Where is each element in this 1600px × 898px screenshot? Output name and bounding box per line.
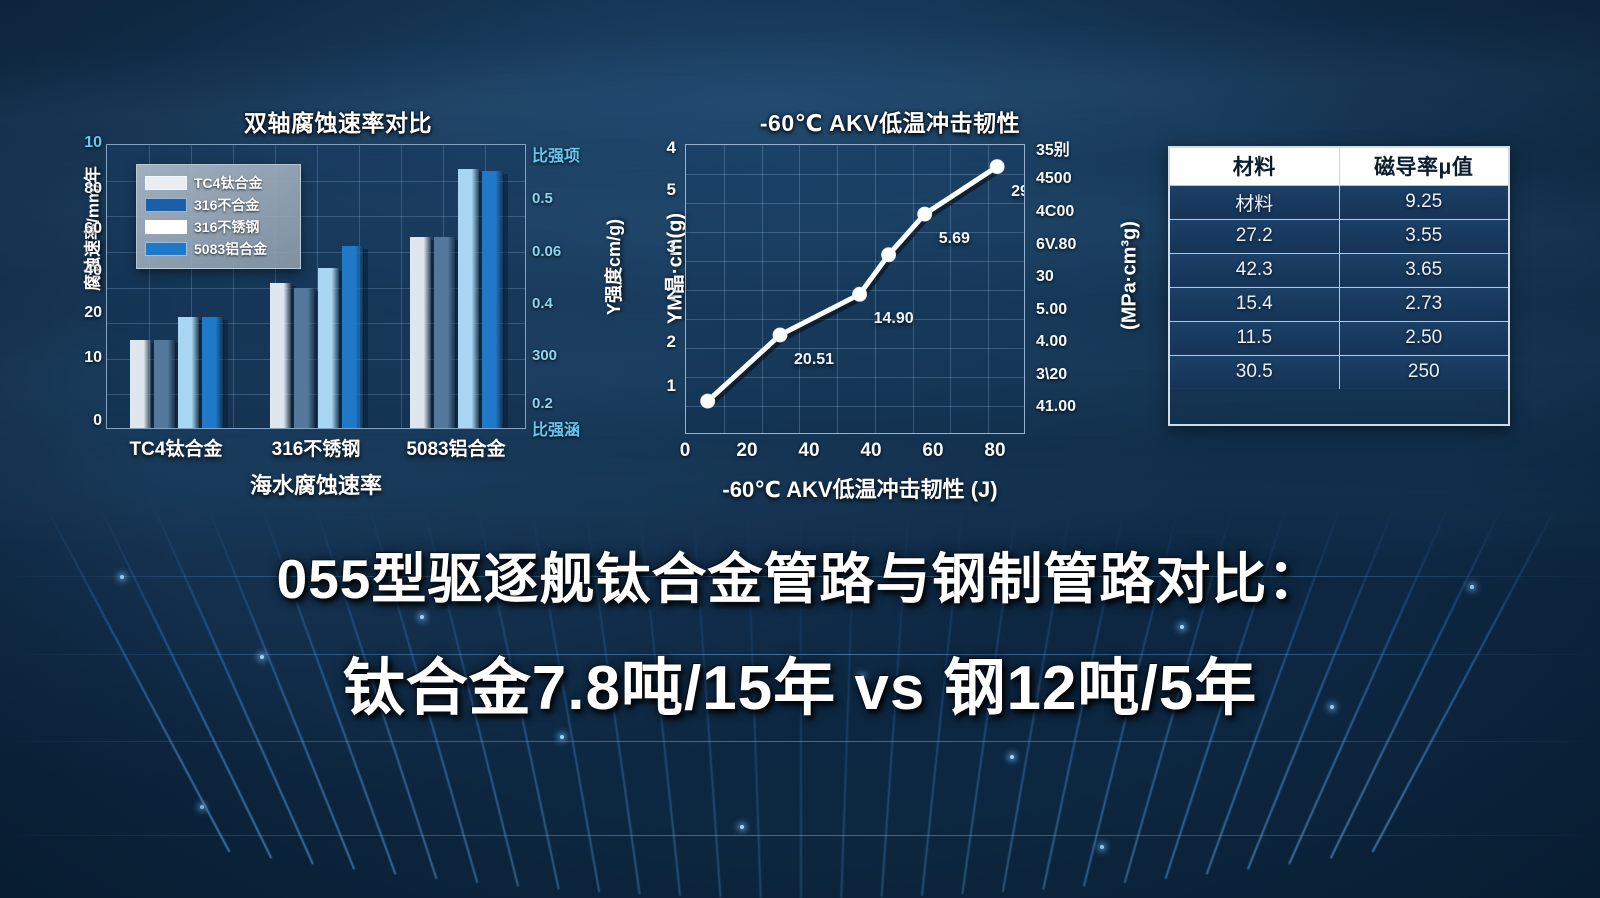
line-chart-panel: -60℃ AKV低温冲击韧性 YM晶·cm(g) (MPa·cm³g) 20.5… <box>630 104 1150 500</box>
line-ytick-left-6: 1 <box>636 376 676 396</box>
line-ytick-right-9: 41.00 <box>1036 398 1098 416</box>
caption-line-1: 055型驱逐舰钛合金管路与钢制管路对比： <box>0 545 1600 614</box>
line-xtick-1: 0 <box>663 440 707 462</box>
bar-ytick-left-6: 10 <box>66 349 102 367</box>
line-series <box>686 145 1025 434</box>
bar-shadow <box>363 249 368 429</box>
line-ytick-left-1: 4 <box>636 138 676 158</box>
bar-fill <box>270 283 292 428</box>
legend-item-2[interactable]: 316不合金 <box>145 194 292 216</box>
line-ytick-right-8: 3\20 <box>1036 366 1098 384</box>
line-chart-x-title: -60℃ AKV低温冲击韧性 (J) <box>650 472 1070 504</box>
table-cell-r4-c2: 2.73 <box>1339 287 1508 321</box>
line-ytick-left-2: 5 <box>636 180 676 200</box>
bar-3-group-1 <box>178 317 200 428</box>
line-ytick-right-7: 4.00 <box>1036 333 1098 351</box>
bar-shadow <box>503 174 508 429</box>
legend-label: 316不锈钢 <box>194 217 259 237</box>
table-row: 27.23.55 <box>1170 219 1508 253</box>
line-chart-plot-area: 20.5114.905.6929.8 <box>685 144 1025 434</box>
line-point-label-2: 20.51 <box>794 351 834 369</box>
bar-fill <box>342 246 364 428</box>
bar-ytick-right-2: 0.06 <box>532 243 584 260</box>
line-point-label-3: 14.90 <box>874 310 914 328</box>
bar-fill <box>130 340 152 428</box>
line-ytick-right-3: 4C00 <box>1036 203 1098 221</box>
bar-ytick-right-4: 300 <box>532 347 584 364</box>
bar-chart-legend: TC4钛合金316不合金316不锈钢5083铝合金 <box>136 164 301 269</box>
bar-fill <box>410 237 432 428</box>
bar-chart-right-cap-top: 比强项 <box>532 142 580 166</box>
bar-2-group-3 <box>434 237 456 428</box>
material-table: 材料磁导率μ值 材料9.2527.23.5542.33.6515.42.7311… <box>1170 148 1508 389</box>
legend-item-4[interactable]: 5083铝合金 <box>145 238 292 260</box>
bar-1-group-1 <box>130 340 152 428</box>
bar-fill <box>294 288 316 428</box>
bar-ytick-right-3: 0.4 <box>532 295 584 312</box>
bar-chart-right-cap-bottom: 比强涵 <box>532 416 580 440</box>
legend-swatch <box>145 176 187 190</box>
bar-1-group-2 <box>270 283 292 428</box>
bar-fill <box>458 169 480 428</box>
bar-3-group-3 <box>458 169 480 428</box>
bar-4-group-3 <box>482 171 504 428</box>
bar-ytick-left-4: 40 <box>66 262 102 280</box>
table-cell-r5-c1: 11.5 <box>1170 321 1339 355</box>
line-ytick-left-4: 2 <box>636 284 676 304</box>
material-table-panel: 材料磁导率μ值 材料9.2527.23.5542.33.6515.42.7311… <box>1168 146 1510 426</box>
table-cell-r2-c1: 27.2 <box>1170 219 1339 253</box>
bar-xtick-1: TC4钛合金 <box>106 434 246 461</box>
bar-fill <box>202 317 224 428</box>
line-chart-y-right-title: (MPa·cm³g) <box>1119 166 1142 386</box>
bar-ytick-left-7: 0 <box>66 412 102 430</box>
line-point-label-6: 29.8 <box>1011 183 1025 201</box>
line-ytick-right-2: 4500 <box>1036 170 1098 188</box>
bar-xtick-3: 5083铝合金 <box>386 434 526 461</box>
line-chart-title: -60℃ AKV低温冲击韧性 <box>630 104 1150 138</box>
table-body: 材料9.2527.23.5542.33.6515.42.7311.52.5030… <box>1170 185 1508 389</box>
caption-block: 055型驱逐舰钛合金管路与钢制管路对比： 钛合金7.8吨/15年 vs 钢12吨… <box>0 545 1600 726</box>
legend-swatch <box>145 220 187 234</box>
bar-shadow <box>223 320 228 429</box>
table-header-2: 磁导率μ值 <box>1339 148 1508 185</box>
bar-chart-title: 双轴腐蚀速率对比 <box>58 104 618 138</box>
bar-fill <box>434 237 456 428</box>
table-cell-r3-c1: 42.3 <box>1170 253 1339 287</box>
table-cell-r4-c1: 15.4 <box>1170 287 1339 321</box>
legend-swatch <box>145 242 187 256</box>
bar-fill <box>154 340 176 428</box>
line-xtick-3: 40 <box>787 440 831 462</box>
bar-fill <box>178 317 200 428</box>
line-xtick-4: 40 <box>849 440 893 462</box>
table-cell-r1-c1: 材料 <box>1170 185 1339 219</box>
bar-gridline-v <box>401 145 402 428</box>
bar-chart-y-right-title: Y强度cm/g) <box>600 182 626 352</box>
bar-2-group-1 <box>154 340 176 428</box>
bar-fill <box>482 171 504 428</box>
line-xtick-6: 80 <box>973 440 1017 462</box>
legend-swatch <box>145 198 187 212</box>
table-cell-r3-c2: 3.65 <box>1339 253 1508 287</box>
table-cell-r5-c2: 2.50 <box>1339 321 1508 355</box>
table-row: 30.5250 <box>1170 355 1508 389</box>
bar-ytick-right-5: 0.2 <box>532 395 584 412</box>
bar-ytick-left-2: 80 <box>66 180 102 198</box>
table-row: 42.33.65 <box>1170 253 1508 287</box>
bar-ytick-left-5: 20 <box>66 304 102 322</box>
table-cell-r6-c1: 30.5 <box>1170 355 1339 389</box>
line-ytick-left-5: 2 <box>636 332 676 352</box>
line-point-label-5: 5.69 <box>939 230 970 248</box>
bar-1-group-3 <box>410 237 432 428</box>
bar-ytick-right-1: 0.5 <box>532 190 584 207</box>
table-row: 材料9.25 <box>1170 185 1508 219</box>
bar-4-group-2 <box>342 246 364 428</box>
line-ytick-right-1: 35别 <box>1036 136 1098 160</box>
legend-label: 5083铝合金 <box>194 239 267 259</box>
bar-3-group-2 <box>318 268 340 428</box>
table-header-1: 材料 <box>1170 148 1339 185</box>
line-ytick-right-6: 5.00 <box>1036 301 1098 319</box>
line-ytick-right-5: 30 <box>1036 268 1098 286</box>
table-cell-r2-c2: 3.55 <box>1339 219 1508 253</box>
bar-xtick-2: 316不锈钢 <box>246 434 386 461</box>
legend-item-3[interactable]: 316不锈钢 <box>145 216 292 238</box>
bar-4-group-1 <box>202 317 224 428</box>
table-cell-r6-c2: 250 <box>1339 355 1508 389</box>
table-cell-r1-c2: 9.25 <box>1339 185 1508 219</box>
bar-fill <box>318 268 340 428</box>
caption-line-2: 钛合金7.8吨/15年 vs 钢12吨/5年 <box>0 652 1600 726</box>
table-row: 15.42.73 <box>1170 287 1508 321</box>
line-xtick-5: 60 <box>911 440 955 462</box>
bar-chart-panel: 双轴腐蚀速率对比 腐蚀速率/mm/年 Y强度cm/g) 比强项 比强涵 TC4钛… <box>58 104 618 500</box>
line-xtick-2: 20 <box>725 440 769 462</box>
bar-ytick-left-1: 10 <box>66 134 102 152</box>
legend-label: TC4钛合金 <box>194 173 262 193</box>
table-row: 11.52.50 <box>1170 321 1508 355</box>
legend-item-1[interactable]: TC4钛合金 <box>145 172 292 194</box>
line-ytick-right-4: 6V.80 <box>1036 236 1098 254</box>
bar-chart-x-title: 海水腐蚀速率 <box>106 468 526 500</box>
line-ytick-left-3: 3 <box>636 237 676 257</box>
bar-ytick-left-3: 60 <box>66 220 102 238</box>
legend-label: 316不合金 <box>194 195 259 215</box>
bar-2-group-2 <box>294 288 316 428</box>
table-header-row: 材料磁导率μ值 <box>1170 148 1508 185</box>
